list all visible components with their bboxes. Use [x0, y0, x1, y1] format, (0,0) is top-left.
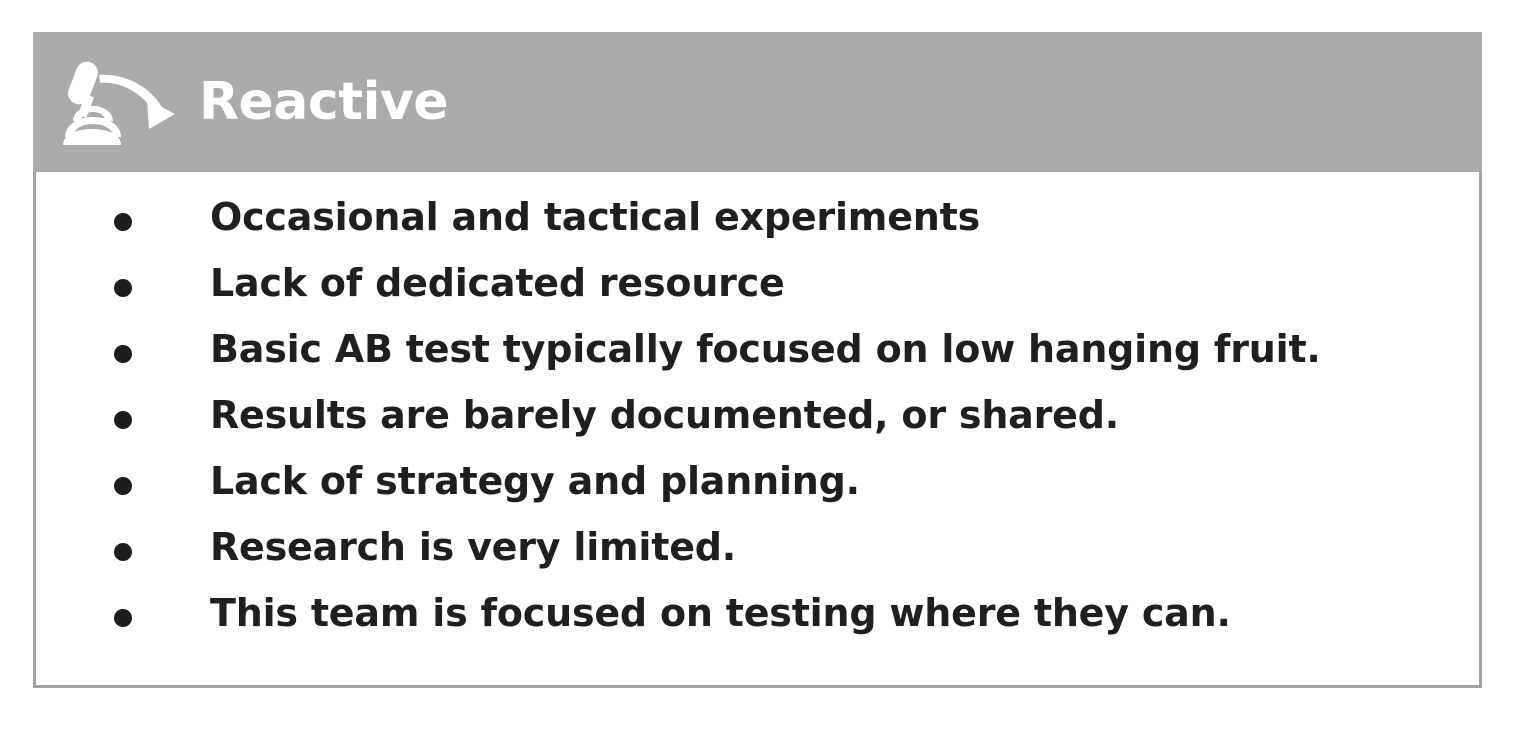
reactive-maturity-card: Reactive Occasional and tactical experim… [33, 32, 1482, 688]
joystick-curved-arrow-icon [59, 59, 177, 145]
bullet-marker [36, 254, 126, 320]
list-item-label: Occasional and tactical experiments [210, 184, 980, 250]
card-body: Occasional and tactical experiments Lack… [33, 172, 1482, 688]
bullet-marker [36, 518, 126, 584]
bullet-marker [36, 386, 126, 452]
list-item: Basic AB test typically focused on low h… [36, 316, 1479, 382]
list-item: Results are barely documented, or shared… [36, 382, 1479, 448]
list-item: Lack of dedicated resource [36, 250, 1479, 316]
card-title: Reactive [199, 76, 448, 128]
list-item: Research is very limited. [36, 514, 1479, 580]
list-item-label: Lack of strategy and planning. [210, 448, 860, 514]
list-item-label: Basic AB test typically focused on low h… [210, 316, 1321, 382]
list-item-label: This team is focused on testing where th… [210, 580, 1231, 646]
list-item: This team is focused on testing where th… [36, 580, 1479, 646]
list-item-label: Lack of dedicated resource [210, 250, 785, 316]
list-item-label: Research is very limited. [210, 514, 736, 580]
list-item: Lack of strategy and planning. [36, 448, 1479, 514]
card-header: Reactive [33, 32, 1482, 172]
bullet-marker [36, 452, 126, 518]
bullet-list: Occasional and tactical experiments Lack… [36, 184, 1479, 646]
list-item-label: Results are barely documented, or shared… [210, 382, 1119, 448]
bullet-marker [36, 584, 126, 650]
bullet-marker [36, 188, 126, 254]
bullet-marker [36, 320, 126, 386]
list-item: Occasional and tactical experiments [36, 184, 1479, 250]
